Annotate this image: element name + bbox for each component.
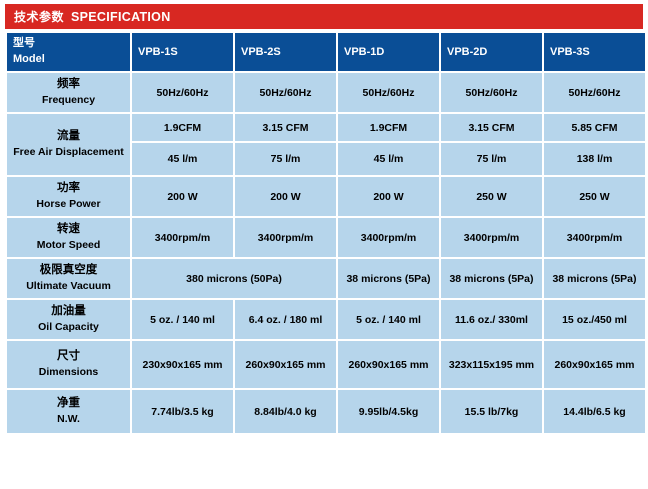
cell-frequency-vpb-1s: 50Hz/60Hz [132, 73, 233, 112]
cell-motor-speed-vpb-1s: 3400rpm/m [132, 218, 233, 257]
row-label-net-weight-english: N.W. [9, 412, 128, 428]
cell-motor-speed-vpb-3s: 3400rpm/m [544, 218, 645, 257]
cell-ultimate-vacuum-vpb-1s-2s-merged: 380 microns (50Pa) [132, 259, 336, 298]
table-row-free-air-displacement-cfm: 流量 Free Air Displacement 1.9CFM 3.15 CFM… [7, 114, 645, 141]
row-label-ultimate-vacuum-chinese: 极限真空度 [9, 262, 128, 279]
cell-ultimate-vacuum-vpb-3s: 38 microns (5Pa) [544, 259, 645, 298]
header-model-label: 型号 Model [7, 33, 130, 71]
row-label-motor-speed-english: Motor Speed [9, 238, 128, 254]
row-label-horse-power: 功率 Horse Power [7, 177, 130, 216]
cell-frequency-vpb-2s: 50Hz/60Hz [235, 73, 336, 112]
cell-dimensions-vpb-2d: 323x115x195 mm [441, 341, 542, 388]
header-model-vpb-2s: VPB-2S [235, 33, 336, 71]
cell-frequency-vpb-1d: 50Hz/60Hz [338, 73, 439, 112]
row-label-horse-power-chinese: 功率 [9, 180, 128, 197]
row-label-ultimate-vacuum: 极限真空度 Ultimate Vacuum [7, 259, 130, 298]
cell-fad-cfm-vpb-3s: 5.85 CFM [544, 114, 645, 141]
cell-motor-speed-vpb-1d: 3400rpm/m [338, 218, 439, 257]
cell-motor-speed-vpb-2s: 3400rpm/m [235, 218, 336, 257]
cell-fad-cfm-vpb-2s: 3.15 CFM [235, 114, 336, 141]
row-label-dimensions-chinese: 尺寸 [9, 348, 128, 365]
table-row-horse-power: 功率 Horse Power 200 W 200 W 200 W 250 W 2… [7, 177, 645, 216]
cell-fad-cfm-vpb-1d: 1.9CFM [338, 114, 439, 141]
row-label-frequency-chinese: 频率 [9, 76, 128, 93]
cell-ultimate-vacuum-vpb-1d: 38 microns (5Pa) [338, 259, 439, 298]
table-row-oil-capacity: 加油量 Oil Capacity 5 oz. / 140 ml 6.4 oz. … [7, 300, 645, 339]
row-label-horse-power-english: Horse Power [9, 197, 128, 213]
cell-net-weight-vpb-1d: 9.95lb/4.5kg [338, 390, 439, 433]
row-label-net-weight: 净重 N.W. [7, 390, 130, 433]
row-label-ultimate-vacuum-english: Ultimate Vacuum [9, 279, 128, 295]
row-label-motor-speed-chinese: 转速 [9, 221, 128, 238]
row-label-net-weight-chinese: 净重 [9, 395, 128, 412]
cell-horse-power-vpb-3s: 250 W [544, 177, 645, 216]
cell-frequency-vpb-3s: 50Hz/60Hz [544, 73, 645, 112]
table-row-dimensions: 尺寸 Dimensions 230x90x165 mm 260x90x165 m… [7, 341, 645, 388]
header-model-vpb-1s: VPB-1S [132, 33, 233, 71]
table-row-frequency: 频率 Frequency 50Hz/60Hz 50Hz/60Hz 50Hz/60… [7, 73, 645, 112]
row-label-oil-capacity-english: Oil Capacity [9, 320, 128, 336]
specification-page: 技术参数 SPECIFICATION 型号 Model VPB-1S VPB-2… [0, 0, 648, 489]
row-label-oil-capacity: 加油量 Oil Capacity [7, 300, 130, 339]
header-model-vpb-3s: VPB-3S [544, 33, 645, 71]
cell-fad-lm-vpb-3s: 138 l/m [544, 143, 645, 175]
cell-dimensions-vpb-1d: 260x90x165 mm [338, 341, 439, 388]
cell-oil-capacity-vpb-1s: 5 oz. / 140 ml [132, 300, 233, 339]
row-label-frequency: 频率 Frequency [7, 73, 130, 112]
row-label-dimensions: 尺寸 Dimensions [7, 341, 130, 388]
specification-table: 型号 Model VPB-1S VPB-2S VPB-1D VPB-2D VPB… [5, 31, 647, 435]
cell-net-weight-vpb-2d: 15.5 lb/7kg [441, 390, 542, 433]
row-label-dimensions-english: Dimensions [9, 365, 128, 381]
cell-dimensions-vpb-1s: 230x90x165 mm [132, 341, 233, 388]
header-model-chinese: 型号 [13, 36, 128, 52]
cell-motor-speed-vpb-2d: 3400rpm/m [441, 218, 542, 257]
header-model-vpb-1d: VPB-1D [338, 33, 439, 71]
row-label-free-air-displacement-chinese: 流量 [9, 128, 128, 145]
row-label-oil-capacity-chinese: 加油量 [9, 303, 128, 320]
cell-fad-cfm-vpb-1s: 1.9CFM [132, 114, 233, 141]
row-label-free-air-displacement-english: Free Air Displacement [9, 145, 128, 161]
cell-fad-cfm-vpb-2d: 3.15 CFM [441, 114, 542, 141]
cell-horse-power-vpb-1d: 200 W [338, 177, 439, 216]
cell-net-weight-vpb-1s: 7.74lb/3.5 kg [132, 390, 233, 433]
cell-oil-capacity-vpb-2s: 6.4 oz. / 180 ml [235, 300, 336, 339]
cell-horse-power-vpb-2s: 200 W [235, 177, 336, 216]
row-label-motor-speed: 转速 Motor Speed [7, 218, 130, 257]
row-label-free-air-displacement: 流量 Free Air Displacement [7, 114, 130, 175]
cell-fad-lm-vpb-1s: 45 l/m [132, 143, 233, 175]
table-row-ultimate-vacuum: 极限真空度 Ultimate Vacuum 380 microns (50Pa)… [7, 259, 645, 298]
table-row-motor-speed: 转速 Motor Speed 3400rpm/m 3400rpm/m 3400r… [7, 218, 645, 257]
cell-fad-lm-vpb-2d: 75 l/m [441, 143, 542, 175]
header-model-english: Model [13, 52, 128, 68]
specification-banner: 技术参数 SPECIFICATION [5, 4, 643, 29]
cell-oil-capacity-vpb-2d: 11.6 oz./ 330ml [441, 300, 542, 339]
cell-net-weight-vpb-3s: 14.4lb/6.5 kg [544, 390, 645, 433]
row-label-frequency-english: Frequency [9, 93, 128, 109]
cell-oil-capacity-vpb-3s: 15 oz./450 ml [544, 300, 645, 339]
cell-fad-lm-vpb-1d: 45 l/m [338, 143, 439, 175]
banner-title-chinese: 技术参数 [14, 8, 64, 25]
table-header-row: 型号 Model VPB-1S VPB-2S VPB-1D VPB-2D VPB… [7, 33, 645, 71]
cell-ultimate-vacuum-vpb-2d: 38 microns (5Pa) [441, 259, 542, 298]
cell-dimensions-vpb-3s: 260x90x165 mm [544, 341, 645, 388]
cell-horse-power-vpb-1s: 200 W [132, 177, 233, 216]
cell-fad-lm-vpb-2s: 75 l/m [235, 143, 336, 175]
cell-dimensions-vpb-2s: 260x90x165 mm [235, 341, 336, 388]
cell-net-weight-vpb-2s: 8.84lb/4.0 kg [235, 390, 336, 433]
header-model-vpb-2d: VPB-2D [441, 33, 542, 71]
banner-title-english: SPECIFICATION [71, 10, 171, 24]
cell-frequency-vpb-2d: 50Hz/60Hz [441, 73, 542, 112]
cell-oil-capacity-vpb-1d: 5 oz. / 140 ml [338, 300, 439, 339]
cell-horse-power-vpb-2d: 250 W [441, 177, 542, 216]
table-row-net-weight: 净重 N.W. 7.74lb/3.5 kg 8.84lb/4.0 kg 9.95… [7, 390, 645, 433]
